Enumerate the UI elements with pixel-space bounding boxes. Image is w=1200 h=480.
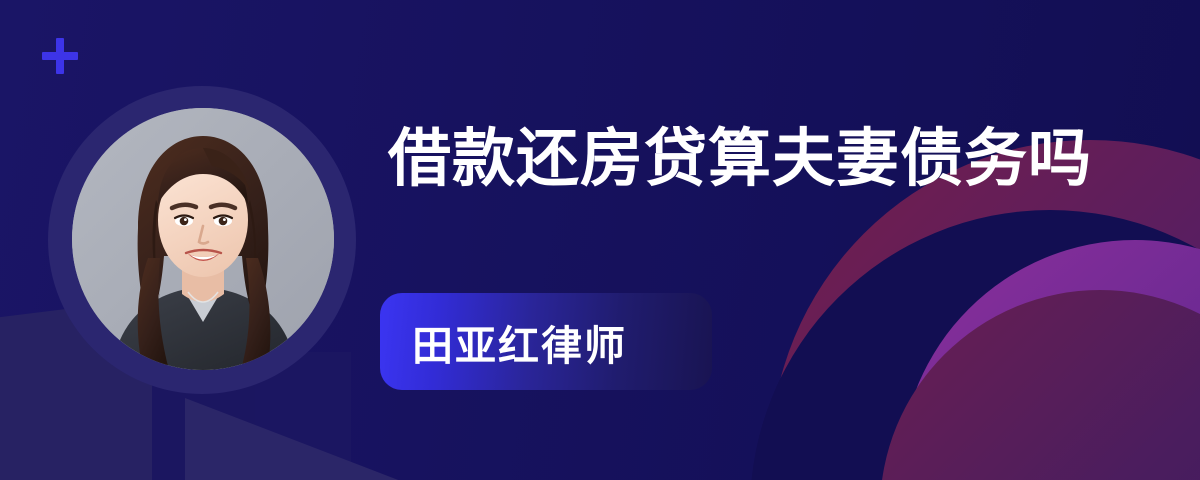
plus-icon: [42, 38, 78, 74]
avatar: [48, 86, 356, 394]
avatar-photo: [72, 108, 334, 370]
speaker-name-button[interactable]: 田亚红律师: [380, 293, 712, 390]
page-title: 借款还房贷算夫妻债务吗: [388, 128, 1092, 191]
video-cover-banner: 借款还房贷算夫妻债务吗 田亚红律师: [0, 0, 1200, 480]
decorative-triangle-shape: [185, 398, 445, 480]
